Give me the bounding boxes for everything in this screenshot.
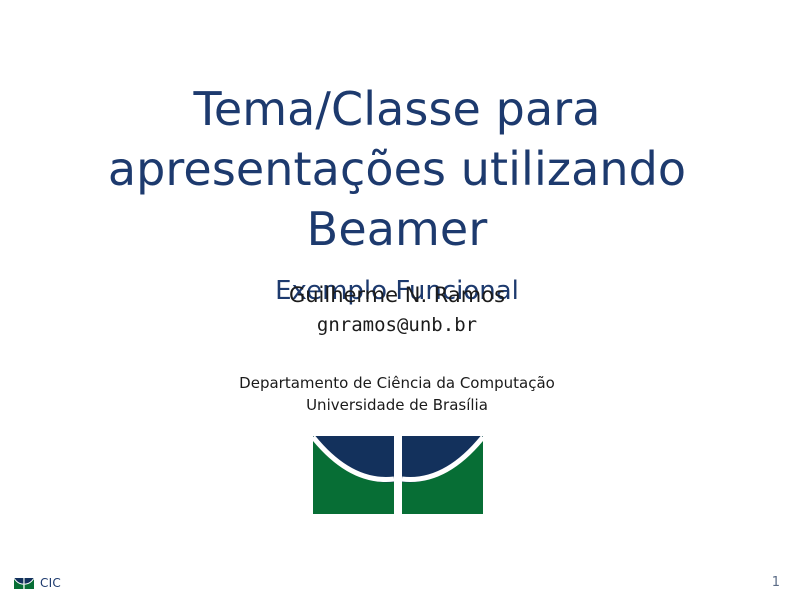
institute-block: Departamento de Ciência da Computação Un… bbox=[0, 373, 794, 417]
title-block: Tema/Classe para apresentações utilizand… bbox=[0, 80, 794, 306]
page-number: 1 bbox=[772, 575, 780, 590]
institute-department: Departamento de Ciência da Computação bbox=[0, 373, 794, 395]
beamer-title-slide: Tema/Classe para apresentações utilizand… bbox=[0, 0, 794, 596]
unb-logo-icon bbox=[14, 578, 34, 589]
footer-institution-label: CIC bbox=[40, 576, 61, 590]
page-title: Tema/Classe para apresentações utilizand… bbox=[0, 80, 794, 259]
institute-university: Universidade de Brasília bbox=[0, 395, 794, 417]
slide-footer: CIC 1 bbox=[0, 560, 794, 596]
author-name: Guilherme N. Ramos bbox=[0, 283, 794, 307]
author-email: gnramos@unb.br bbox=[0, 314, 794, 336]
footer-brand: CIC bbox=[14, 576, 61, 590]
author-block: Guilherme N. Ramos gnramos@unb.br bbox=[0, 283, 794, 336]
unb-logo bbox=[313, 436, 483, 514]
